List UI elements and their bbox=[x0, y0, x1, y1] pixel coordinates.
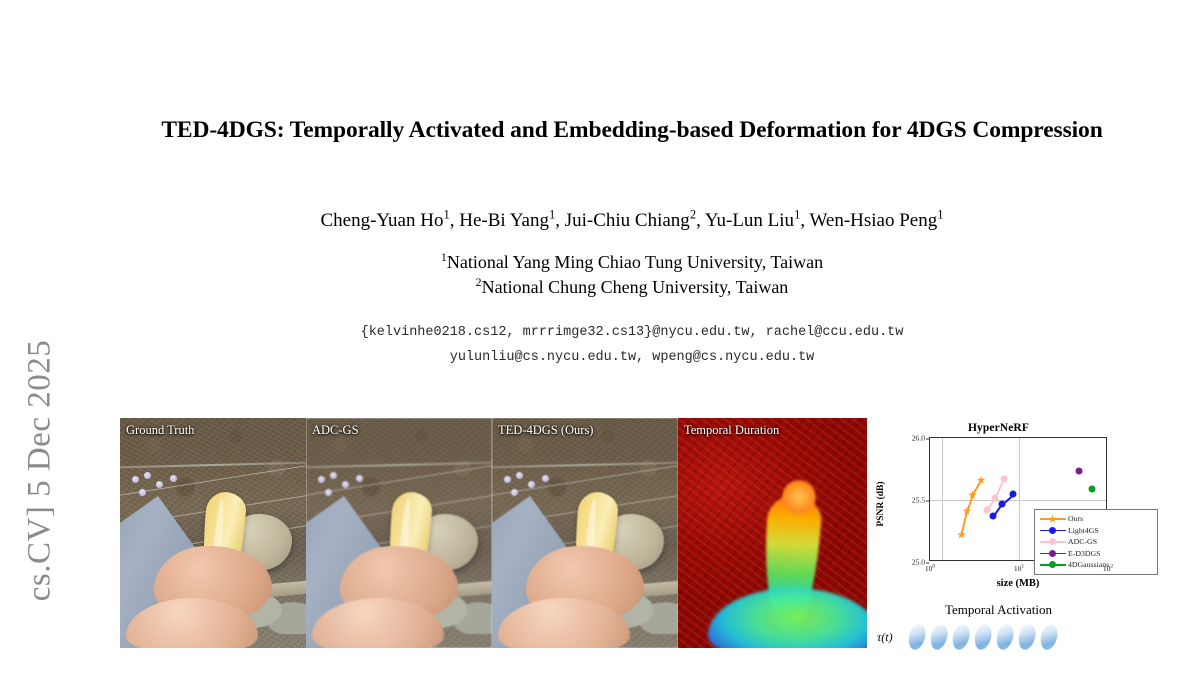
chart-data-point bbox=[1010, 490, 1017, 497]
legend-row: 4DGaussians bbox=[1038, 559, 1153, 571]
comparison-panel-row: Ground Truth bbox=[120, 418, 867, 648]
legend-marker-icon bbox=[1038, 513, 1068, 524]
chart-data-point bbox=[962, 507, 971, 516]
chart-y-tick: 25.0 bbox=[912, 558, 925, 567]
chart-data-point bbox=[957, 530, 966, 539]
author-list: Cheng-Yuan Ho1, He-Bi Yang1, Jui-Chiu Ch… bbox=[122, 208, 1142, 234]
panel-adc-gs: ADC-GS bbox=[306, 418, 492, 648]
legend-marker-icon bbox=[1038, 548, 1068, 559]
panel-ground-truth: Ground Truth bbox=[120, 418, 306, 648]
page-title: TED-4DGS: Temporally Activated and Embed… bbox=[122, 114, 1142, 146]
panel-label: Ground Truth bbox=[126, 423, 194, 438]
teaser-figure: Ground Truth bbox=[120, 418, 1122, 648]
legend-label: Light4GS bbox=[1068, 526, 1099, 535]
email-line: {kelvinhe0218.cs12, mrrrimge32.cs13}@nyc… bbox=[122, 320, 1142, 345]
activation-blob bbox=[994, 622, 1016, 651]
activation-blob bbox=[972, 622, 994, 651]
affiliation-line: 1National Yang Ming Chiao Tung Universit… bbox=[122, 250, 1142, 275]
chart-y-tick: 25.5 bbox=[912, 496, 925, 505]
tau-label: τ(t) bbox=[877, 630, 893, 645]
panel-temporal-duration: Temporal Duration bbox=[678, 418, 867, 648]
legend-marker-icon bbox=[1038, 536, 1068, 547]
legend-marker-icon bbox=[1038, 559, 1068, 570]
chart-x-tick: 101 bbox=[1014, 564, 1024, 573]
legend-row: ADC-GS bbox=[1038, 536, 1153, 548]
email-list: {kelvinhe0218.cs12, mrrrimge32.cs13}@nyc… bbox=[122, 320, 1142, 370]
banana-scene-image bbox=[492, 418, 678, 648]
chart-data-point bbox=[998, 500, 1005, 507]
legend-label: Ours bbox=[1068, 514, 1083, 523]
chart-data-point bbox=[992, 494, 999, 501]
chart-plot-area: OursLight4GSADC-GSE-D3DGS4DGaussians 25.… bbox=[929, 437, 1107, 561]
activation-blob bbox=[1038, 622, 1060, 651]
panel-label: ADC-GS bbox=[312, 423, 359, 438]
activation-blob bbox=[928, 622, 950, 651]
email-line: yulunliu@cs.nycu.edu.tw, wpeng@cs.nycu.e… bbox=[122, 345, 1142, 370]
panel-ted-4dgs-ours: TED-4DGS (Ours) bbox=[492, 418, 678, 648]
chart-gridline-minor bbox=[942, 438, 943, 560]
chart-data-point bbox=[1088, 485, 1095, 492]
legend-row: Ours bbox=[1038, 513, 1153, 525]
legend-marker-icon bbox=[1038, 525, 1068, 536]
panel-label: Temporal Duration bbox=[684, 423, 779, 438]
chart-gridline bbox=[1019, 438, 1020, 560]
chart-gridline bbox=[930, 500, 1106, 501]
temporal-activation-title: Temporal Activation bbox=[875, 602, 1122, 618]
chart-x-tick: 100 bbox=[925, 564, 935, 573]
banana-scene-image bbox=[120, 418, 306, 648]
chart-legend: OursLight4GSADC-GSE-D3DGS4DGaussians bbox=[1034, 509, 1158, 575]
legend-row: Light4GS bbox=[1038, 525, 1153, 537]
chart-y-tick: 26.0 bbox=[912, 434, 925, 443]
chart-data-point bbox=[1075, 468, 1082, 475]
chart-data-point bbox=[989, 513, 996, 520]
legend-label: E-D3DGS bbox=[1068, 549, 1101, 558]
chart-y-axis-label: PSNR (dB) bbox=[876, 474, 886, 534]
legend-label: ADC-GS bbox=[1068, 537, 1097, 546]
affiliation-list: 1National Yang Ming Chiao Tung Universit… bbox=[122, 250, 1142, 299]
paper-body: TED-4DGS: Temporally Activated and Embed… bbox=[62, 0, 1200, 648]
chart-x-axis-label: size (MB) bbox=[929, 578, 1107, 589]
banana-scene-image bbox=[306, 418, 492, 648]
chart-data-point bbox=[984, 506, 991, 513]
legend-row: E-D3DGS bbox=[1038, 548, 1153, 560]
chart-title: HyperNeRF bbox=[875, 422, 1122, 434]
temporal-duration-heatmap bbox=[678, 418, 867, 648]
chart-x-tick: 102 bbox=[1103, 564, 1113, 573]
activation-blob bbox=[1016, 622, 1038, 651]
affiliation-line: 2National Chung Cheng University, Taiwan bbox=[122, 275, 1142, 300]
temporal-activation-block: Temporal Activation τ(t) bbox=[875, 602, 1122, 648]
activation-blob bbox=[950, 622, 972, 651]
chart-data-point bbox=[1000, 475, 1007, 482]
arxiv-stamp-text: cs.CV] 5 Dec 2025 bbox=[22, 261, 59, 681]
activation-blob bbox=[906, 622, 928, 651]
activation-blob-row bbox=[909, 624, 1057, 650]
panel-label: TED-4DGS (Ours) bbox=[498, 423, 593, 438]
arxiv-stamp: cs.CV] 5 Dec 2025 bbox=[0, 0, 62, 648]
